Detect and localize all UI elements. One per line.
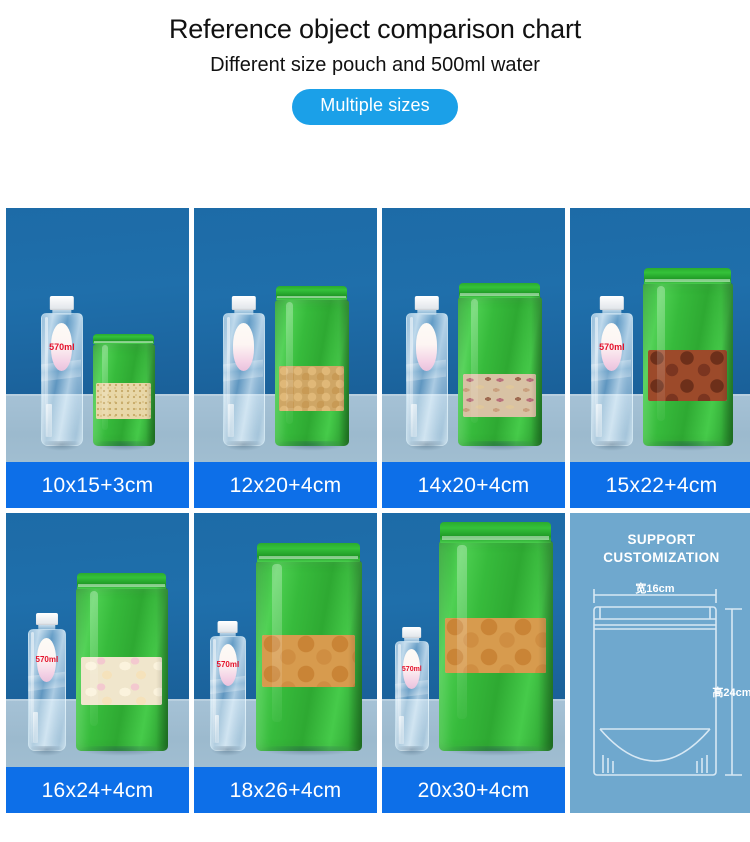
pouch-size-bar: 14x20+4cm [382,462,565,508]
stand-up-pouch [76,573,168,751]
width-label-text: 宽16cm [634,581,674,595]
bottle-cap [217,621,238,633]
stand-up-pouch [275,286,349,446]
pouch-gloss [102,345,108,430]
pouch-zipper-line [94,341,152,343]
pouch-zipper-line [277,296,347,299]
support-customization-panel[interactable]: SUPPORT CUSTOMIZATION [570,513,750,813]
pouch-comparison-grid: 570ml [6,208,744,813]
product-objects: 570ml [28,573,168,751]
product-objects: 570ml [41,296,155,446]
pouch-side-shadow [721,282,733,446]
bottle-cap [35,613,57,625]
stand-up-pouch [439,522,553,751]
product-stage: 570ml [382,208,565,462]
pouch-side-shadow [348,560,362,751]
pouch-side-shadow [146,343,154,446]
pouch-size-bar: 12x20+4cm [194,462,377,508]
pouch-cell[interactable]: 570ml [6,208,189,508]
pouch-zipper-line [78,584,165,587]
bottle-label: 570ml [37,638,56,682]
bottle-neck [38,625,55,631]
water-bottle: 570ml [41,296,83,446]
product-stage: 570ml [6,513,189,767]
pouch-cell[interactable]: 570ml [570,208,750,508]
product-objects: 570ml [591,268,733,446]
bottle-water-line [46,404,51,437]
pouch-outline [594,607,716,775]
pouch-cell[interactable]: 570ml [194,513,377,813]
pouch-dimension-diagram: 宽16cm 高24cm [570,579,750,803]
pouch-cell[interactable]: 570ml [382,208,565,508]
page-header: Reference object comparison chart Differ… [0,0,750,125]
pouch-cell[interactable]: 570ml [194,208,377,508]
pouch-side-shadow [156,587,168,751]
water-bottle: 570ml [223,296,265,446]
bottle-cap [599,296,623,310]
pouch-zipper-line [442,536,549,540]
bottle-label: 570ml [403,649,420,689]
pouch-side-shadow [531,296,542,446]
page-subtitle: Different size pouch and 500ml water [0,54,750,77]
water-bottle: 570ml [28,613,66,751]
product-objects: 570ml [210,543,362,751]
pouch-size-bar: 15x22+4cm [570,462,750,508]
pouch-side-shadow [538,540,553,751]
bottle-volume-text: 570ml [599,343,625,352]
page-title: Reference object comparison chart [0,14,750,45]
badge-container: Multiple sizes [0,89,750,125]
pouch-zipper-line [645,279,730,282]
pouch-size-label: 20x30+4cm [418,780,530,801]
water-bottle: 570ml [406,296,448,446]
bottle-neck [602,309,621,315]
bottle-water-line [411,404,416,437]
product-objects: 570ml [395,522,553,751]
pouch-size-bar: 18x26+4cm [194,767,377,813]
stand-up-pouch [458,283,542,446]
bottle-label: 570ml [233,323,254,371]
pouch-size-label: 16x24+4cm [42,780,154,801]
bottle-cap [231,296,255,310]
product-stage: 570ml [570,208,750,462]
bottle-volume-text: 570ml [49,343,75,352]
bottle-label: 570ml [601,323,622,371]
bottle-water-line [596,404,601,437]
customization-title: SUPPORT CUSTOMIZATION [570,531,750,567]
pouch-gloss [272,564,282,722]
pouch-size-label: 15x22+4cm [606,475,718,496]
product-objects: 570ml [223,286,349,446]
height-label-text: 高24cm [712,685,750,699]
pouch-cell[interactable]: 570ml [6,513,189,813]
product-stage: 570ml [382,513,565,767]
bottle-volume-text: 570ml [217,661,240,669]
bottle-label: 570ml [219,644,237,686]
bottle-neck [219,632,236,637]
stand-up-pouch [93,334,155,446]
product-stage: 570ml [6,208,189,462]
product-stage: 570ml [194,208,377,462]
multiple-sizes-badge[interactable]: Multiple sizes [292,89,457,125]
bottle-water-line [215,715,220,744]
pouch-size-bar: 20x30+4cm [382,767,565,813]
water-bottle: 570ml [395,627,429,751]
bottle-water-line [33,712,38,742]
bottle-neck [404,638,420,643]
pouch-gloss [457,545,467,719]
bottle-neck [234,309,253,315]
bottle-neck [417,309,436,315]
pouch-size-bar: 16x24+4cm [6,767,189,813]
bottle-cap [49,296,73,310]
pouch-gloss [471,299,479,423]
bottom-gusset-curve [600,729,710,761]
pouch-zipper-line [460,293,539,296]
product-objects: 570ml [406,283,542,446]
bottle-water-line [399,716,403,743]
water-bottle: 570ml [591,296,633,446]
pouch-size-label: 14x20+4cm [418,475,530,496]
customization-title-line2: CUSTOMIZATION [570,549,750,567]
pouch-blueprint-svg: 宽16cm 高24cm [570,579,750,803]
water-bottle: 570ml [210,621,246,751]
product-stage: 570ml [194,513,377,767]
pouch-gloss [657,286,665,421]
stand-up-pouch [643,268,733,446]
bottle-cap [402,627,422,638]
pouch-side-shadow [339,299,349,446]
pouch-zipper-line [259,556,359,559]
bottle-volume-text: 570ml [402,666,422,673]
bottle-label: 570ml [51,323,72,371]
customization-title-line1: SUPPORT [570,531,750,549]
pouch-size-label: 12x20+4cm [230,475,342,496]
pouch-gloss [90,591,98,726]
stand-up-pouch [256,543,362,751]
pouch-gloss [286,302,293,424]
pouch-size-bar: 10x15+3cm [6,462,189,508]
pouch-size-label: 18x26+4cm [230,780,342,801]
bottle-neck [52,309,71,315]
pouch-size-label: 10x15+3cm [42,475,154,496]
bottle-volume-text: 570ml [36,656,59,664]
bottle-water-line [228,404,233,437]
pouch-cell[interactable]: 570ml [382,513,565,813]
bottle-cap [414,296,438,310]
bottle-label: 570ml [416,323,437,371]
